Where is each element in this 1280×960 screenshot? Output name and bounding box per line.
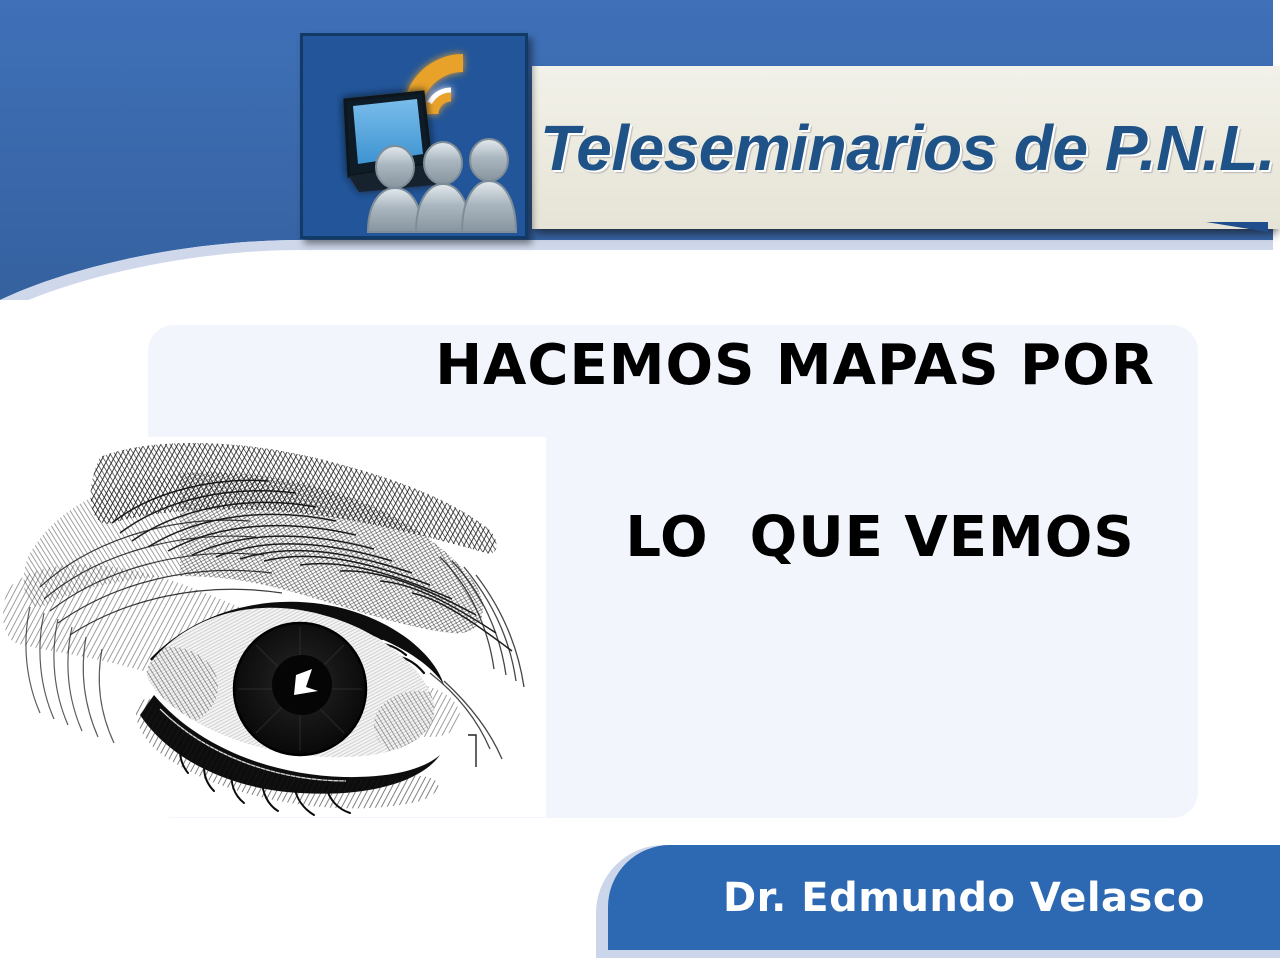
brand-title-plaque: Teleseminarios de P.N.L.	[532, 66, 1280, 229]
audience-people-icon	[368, 139, 516, 232]
headline-line-2: LO QUE VEMOS	[540, 505, 1220, 570]
presenter-name: Dr. Edmundo Velasco	[683, 875, 1205, 921]
presentation-slide: Teleseminarios de P.N.L.	[0, 0, 1280, 960]
brand-title: Teleseminarios de P.N.L.	[540, 111, 1280, 185]
presenter-banner: Dr. Edmundo Velasco	[608, 845, 1280, 950]
plaque-fold-corner	[1206, 222, 1268, 232]
human-eye-engraving	[0, 437, 546, 817]
teleseminar-logo	[300, 33, 528, 239]
headline-line-1: HACEMOS MAPAS POR	[380, 333, 1210, 398]
